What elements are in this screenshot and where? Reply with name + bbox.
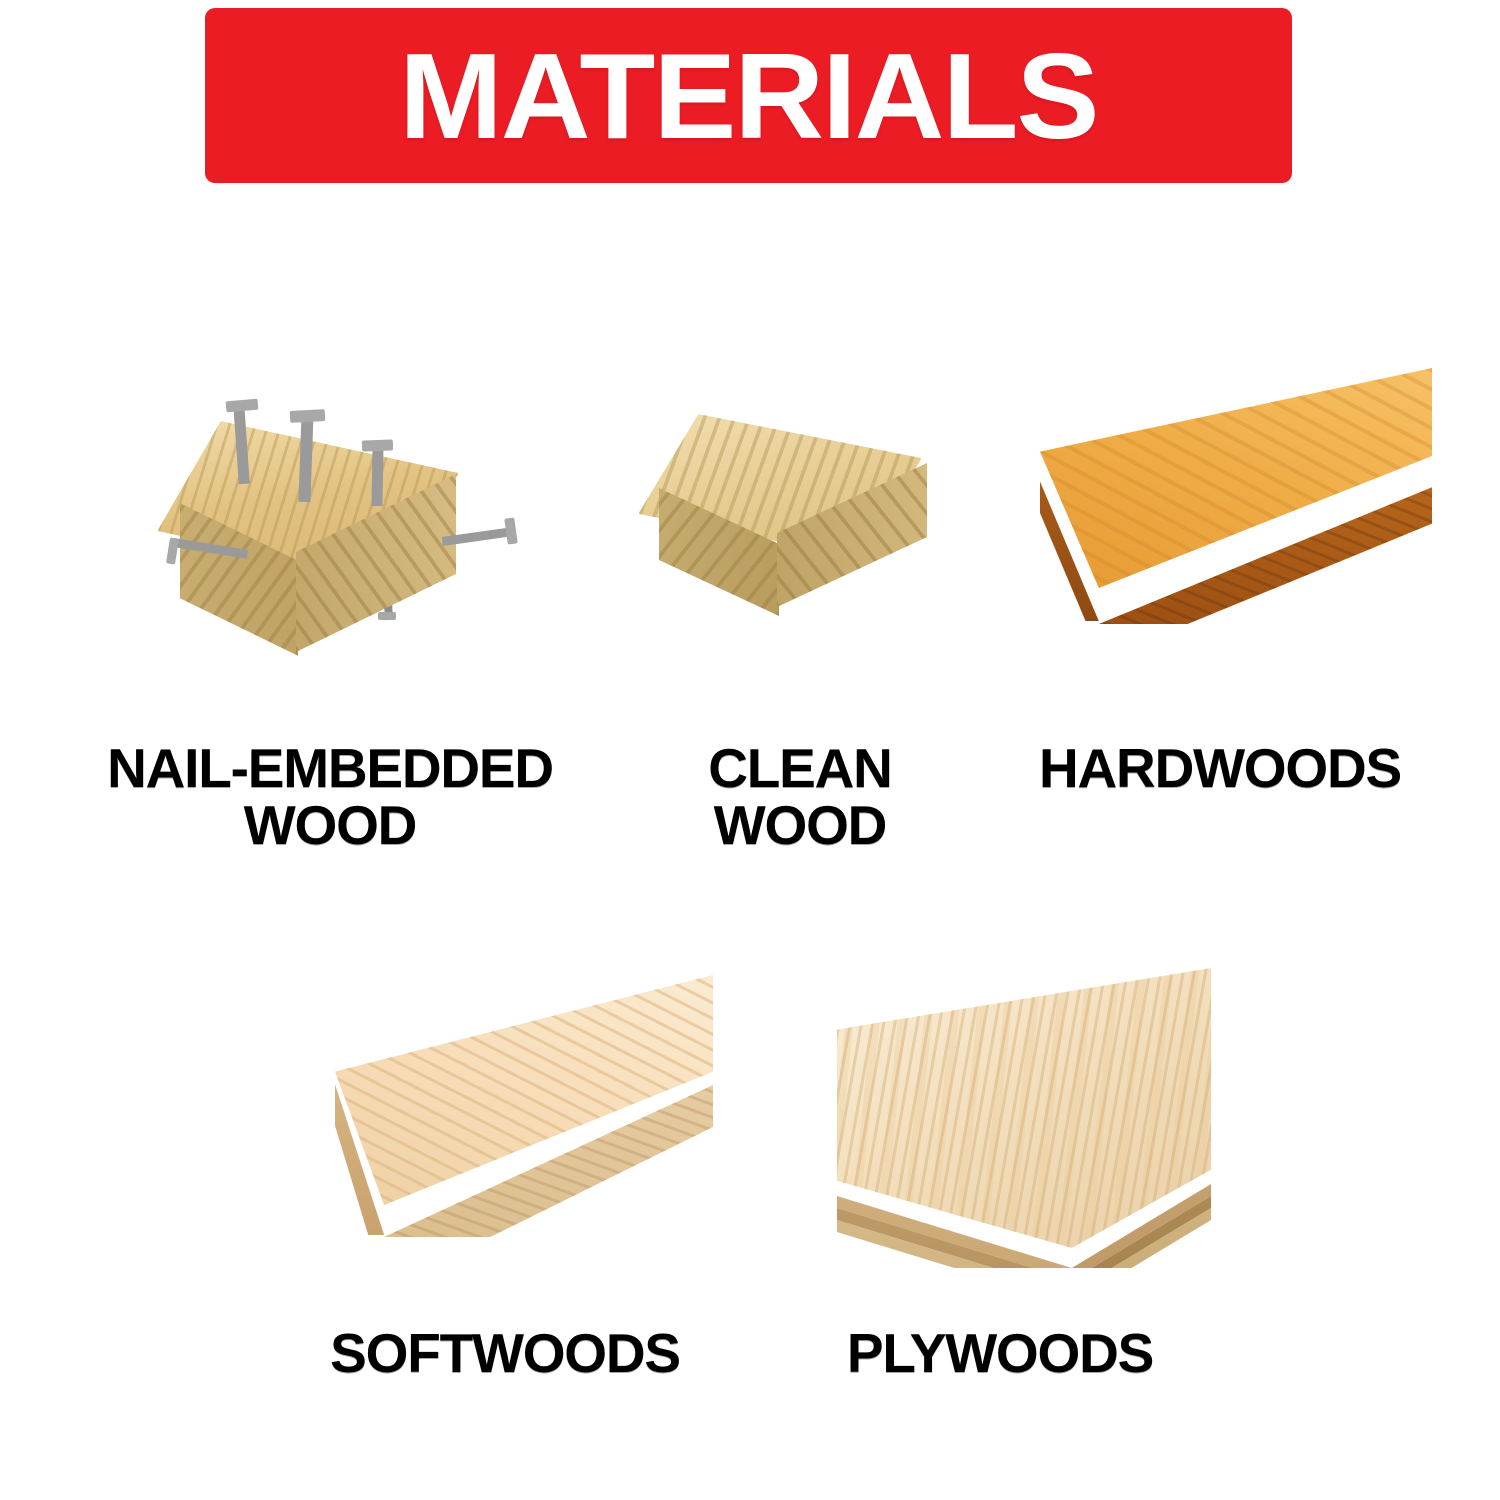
label-hardwoods: HARDWOODS — [970, 740, 1470, 797]
label-clean-wood: CLEAN WOOD — [650, 740, 950, 854]
board-top-face — [1040, 368, 1432, 588]
board-top-face — [335, 975, 713, 1205]
plywoods-image — [825, 968, 1225, 1288]
nail-icon — [226, 399, 259, 413]
plywood-top-face — [825, 968, 1223, 1248]
nail-embedded-wood-image — [160, 392, 520, 657]
nail-icon — [290, 409, 326, 423]
hardwoods-image — [1040, 368, 1435, 628]
nail-icon — [362, 439, 393, 451]
clean-wood-image — [645, 430, 965, 620]
nail-icon — [504, 517, 518, 544]
materials-banner: MATERIALS — [205, 8, 1292, 183]
softwoods-image — [335, 975, 715, 1250]
label-nail-embedded-wood: NAIL-EMBEDDED WOOD — [30, 740, 630, 854]
label-plywoods: PLYWOODS — [775, 1325, 1225, 1382]
nail-icon — [371, 444, 383, 506]
nail-icon — [166, 537, 179, 564]
label-softwoods: SOFTWOODS — [255, 1325, 755, 1382]
nail-icon — [378, 612, 396, 620]
page-title: MATERIALS — [399, 35, 1097, 157]
